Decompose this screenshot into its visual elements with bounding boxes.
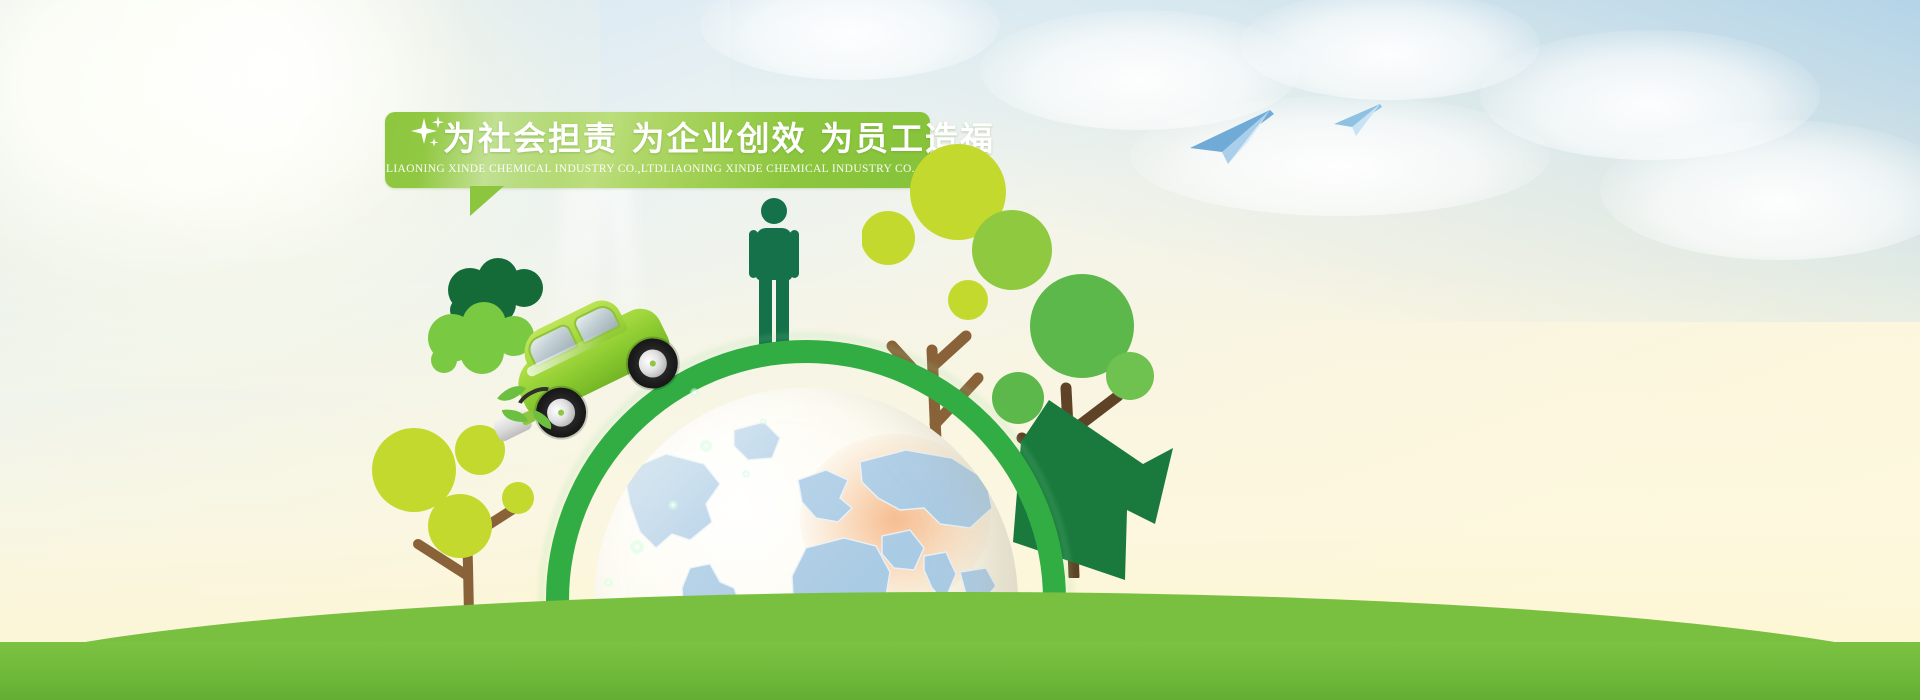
person-head	[761, 198, 787, 224]
person-leg-left	[759, 274, 772, 346]
sparkle-icon	[407, 116, 447, 156]
person-torso	[756, 228, 792, 280]
green-ground-strip	[0, 642, 1920, 700]
person-arm-left	[749, 230, 758, 278]
paper-airplane-icon	[1332, 102, 1382, 138]
speech-bubble-tail	[470, 186, 504, 216]
person-figure	[748, 198, 800, 346]
paper-airplane-icon	[1188, 108, 1274, 166]
person-arm-right	[790, 230, 799, 278]
slogan-speech-bubble: 为社会担责 为企业创效 为员工造福 LIAONING XINDE CHEMICA…	[385, 112, 930, 188]
eco-corporate-banner: 为社会担责 为企业创效 为员工造福 LIAONING XINDE CHEMICA…	[0, 0, 1920, 700]
company-name-en: LIAONING XINDE CHEMICAL INDUSTRY CO.,LTD…	[386, 163, 929, 175]
